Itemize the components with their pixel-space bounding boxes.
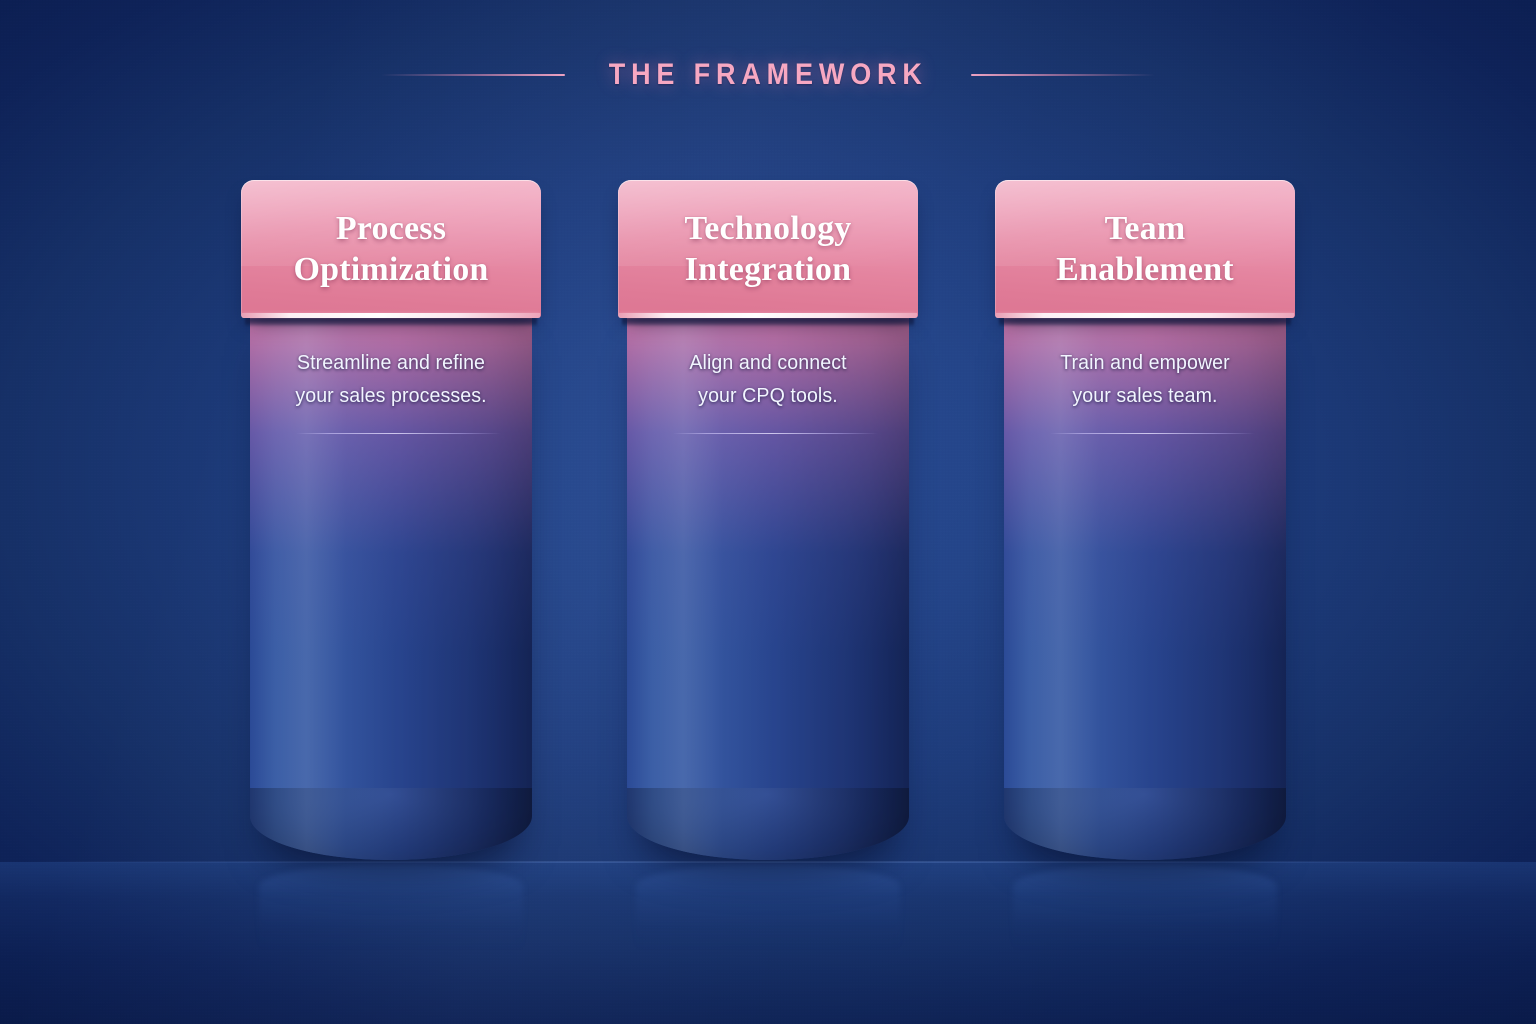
framework-pillars: Streamline and refine your sales process… [241, 180, 1295, 870]
card-header-plate[interactable]: Technology Integration [618, 180, 918, 318]
card-title: Process Optimization [285, 208, 496, 290]
card-body [1004, 312, 1286, 860]
card-header-plate[interactable]: Team Enablement [995, 180, 1295, 318]
framework-slide: THE FRAMEWORK Streamline and refine your… [0, 0, 1536, 1024]
card-body [250, 312, 532, 860]
card-header-plate[interactable]: Process Optimization [241, 180, 541, 318]
pillar-card-process-optimization[interactable]: Streamline and refine your sales process… [241, 180, 541, 870]
card-title: Team Enablement [1048, 208, 1242, 290]
card-body-gloss [250, 312, 532, 860]
card-body-base [627, 788, 909, 860]
pillar-card-team-enablement[interactable]: Train and empower your sales team. Team … [995, 180, 1295, 870]
card-body-gloss [627, 312, 909, 860]
card-body-base [250, 788, 532, 860]
card-body [627, 312, 909, 860]
card-body-base [1004, 788, 1286, 860]
card-body-gloss [1004, 312, 1286, 860]
pillar-card-technology-integration[interactable]: Align and connect your CPQ tools. Techno… [618, 180, 918, 870]
card-title: Technology Integration [676, 208, 859, 290]
